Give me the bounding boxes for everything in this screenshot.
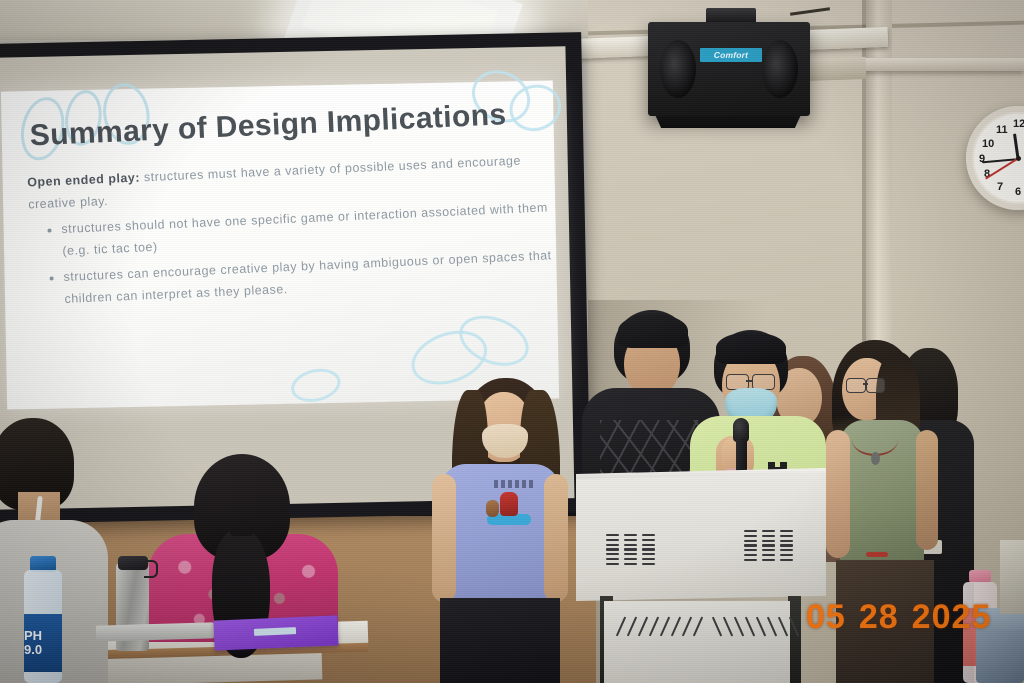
projected-slide: Summary of Design Implications Open ende…: [1, 80, 559, 409]
vent-column: [624, 534, 637, 565]
arm-right: [916, 430, 938, 550]
podium-vent-left: [606, 534, 655, 565]
necklace-pendant: [871, 452, 880, 465]
slide-doodle-8: [288, 364, 344, 407]
clock-numeral-10: 10: [982, 138, 994, 150]
bottle-label: PH 9.0: [24, 614, 62, 672]
laptop-silver: [96, 622, 214, 641]
bottle-label-text: PH 9.0: [24, 629, 62, 656]
vent-column: [744, 530, 757, 561]
vent-column: [642, 534, 655, 565]
arm-left: [432, 474, 456, 602]
datestamp-year: 2025: [912, 598, 992, 637]
vent-column: [780, 530, 793, 561]
speaker-driver-left: [660, 40, 696, 98]
projector-screen-housing-cap: [806, 57, 867, 81]
arm-right: [544, 474, 568, 602]
speaker-brand-logo: Comfort: [700, 48, 762, 62]
arm-left: [826, 430, 850, 558]
podium-body: [604, 601, 790, 683]
photo-scene: Summary of Design Implications Open ende…: [0, 0, 1024, 683]
podium-vent-right: [744, 530, 793, 561]
slide-bullet-list: structures should not have one specific …: [47, 196, 559, 311]
clock-numeral-6: 6: [1015, 186, 1021, 198]
tee-graphic-character: [500, 492, 518, 516]
clock-center-pin: [1016, 156, 1021, 161]
bracelet-red: [866, 552, 888, 557]
thermos-handle: [144, 560, 158, 578]
hair-fringe: [716, 332, 786, 364]
skirt-black: [440, 598, 560, 683]
clock-numeral-7: 7: [997, 181, 1003, 193]
clock-numeral-11: 11: [996, 124, 1008, 136]
speaker-driver-right: [762, 40, 798, 98]
camera-datestamp: 05 28 2025: [806, 598, 991, 637]
wall-ledge: [860, 58, 1024, 71]
datestamp-month: 05: [806, 598, 846, 637]
hair-tie: [230, 528, 254, 536]
vent-column: [606, 534, 619, 565]
tee-graphic-character-2: [486, 500, 499, 517]
slide-body: Open ended play: structures must have a …: [27, 148, 559, 312]
pa-speaker: [648, 22, 810, 116]
podium-diagonal-vents: [620, 616, 776, 636]
datestamp-day: 28: [859, 598, 899, 637]
desk-equipment-right: [1000, 540, 1024, 614]
slide-lead-bold: Open ended play:: [27, 170, 140, 189]
hair-fringe: [618, 314, 688, 348]
water-bottle-ph90: PH 9.0: [22, 556, 64, 683]
vent-column: [762, 530, 775, 561]
clock-numeral-12: 12: [1013, 118, 1024, 130]
tee-graphic-text: [494, 480, 536, 488]
